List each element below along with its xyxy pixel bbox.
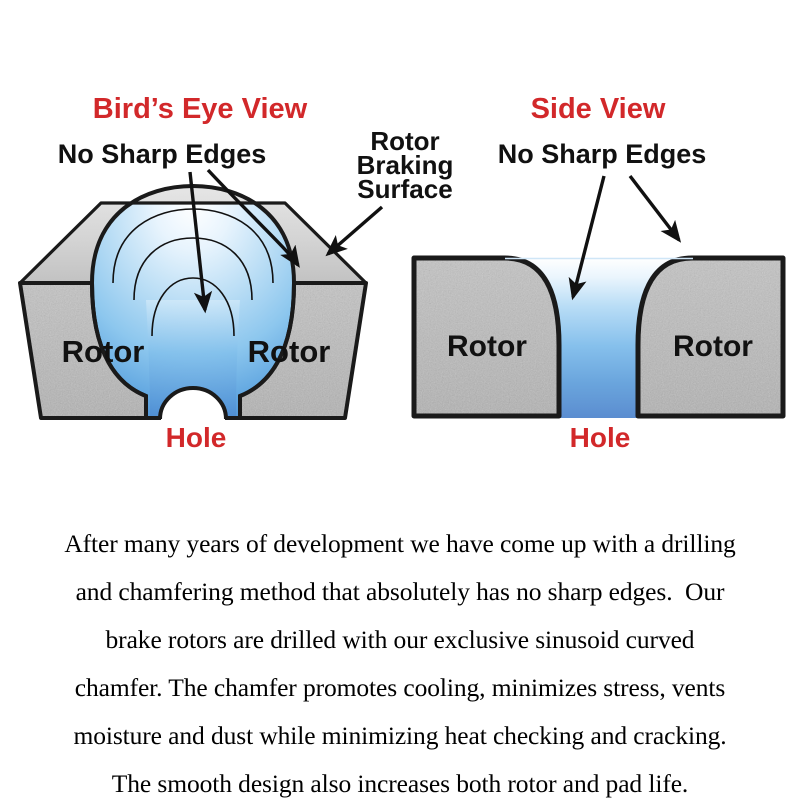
caption-line-3: brake rotors are drilled with our exclus… [0,616,800,664]
side-view-title: Side View [531,93,666,125]
birds-eye-hole-label: Hole [166,422,227,453]
caption-paragraph: After many years of development we have … [0,520,800,808]
birds-eye-view-title: Bird’s Eye View [93,93,308,125]
birds-eye-view-group: Rotor Rotor Hole Bird’s Eye View No Shar… [20,93,453,453]
arrow-to-rotor-braking-surface [328,207,382,254]
caption-line-2: and chamfering method that absolutely ha… [0,568,800,616]
side-view-hole-label: Hole [570,422,631,453]
caption-line-5: moisture and dust while minimizing heat … [0,712,800,760]
side-view-arrow-to-right-chamfer [630,176,679,240]
illustration-page: Rotor Rotor Hole Bird’s Eye View No Shar… [0,0,800,800]
birds-eye-rotor-label-right: Rotor [248,334,331,369]
side-view-rotor-label-right: Rotor [673,330,753,363]
birds-eye-rotor-label-left: Rotor [62,334,145,369]
caption-line-6: The smooth design also increases both ro… [0,760,800,808]
birds-eye-no-sharp-edges-label: No Sharp Edges [58,139,267,169]
side-view-rotor-label-left: Rotor [447,330,527,363]
rotor-chamfer-diagram: Rotor Rotor Hole Bird’s Eye View No Shar… [0,0,800,480]
rotor-braking-surface-label-line3: Surface [357,174,452,204]
side-view-no-sharp-edges-label: No Sharp Edges [498,139,707,169]
caption-line-4: chamfer. The chamfer promotes cooling, m… [0,664,800,712]
side-view-group: Rotor Rotor Hole Side View No Sharp Edge… [414,93,783,453]
caption-line-1: After many years of development we have … [0,520,800,568]
